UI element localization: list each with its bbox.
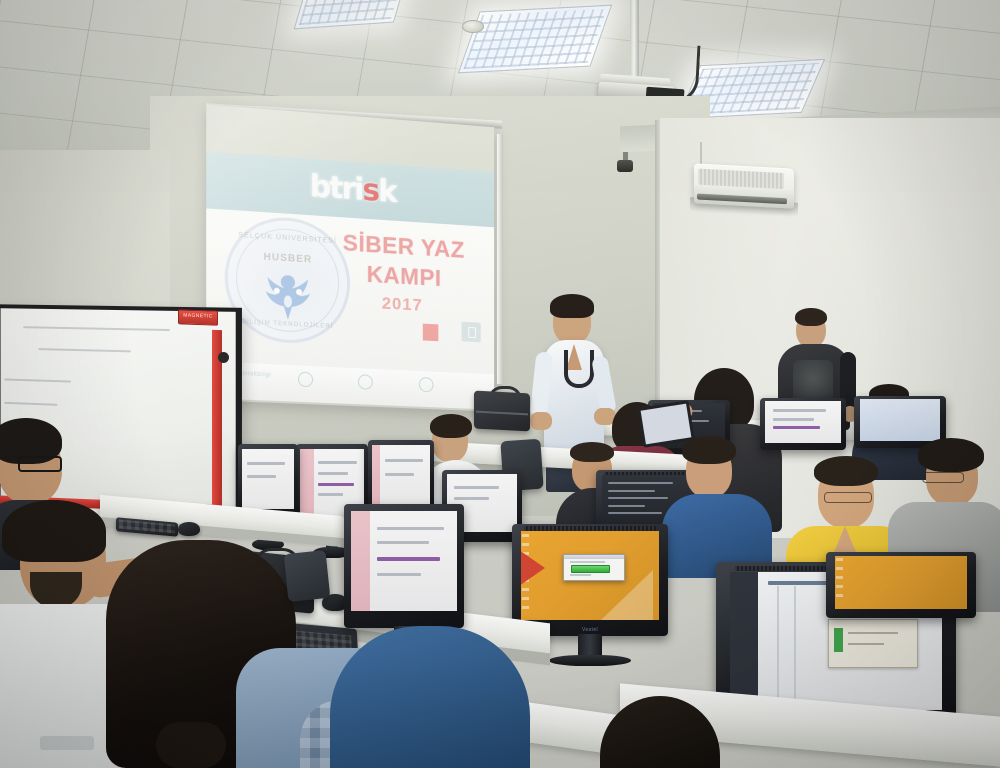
window-row bbox=[454, 497, 489, 500]
glasses-icon bbox=[922, 472, 964, 483]
desktop-white bbox=[242, 449, 295, 510]
terminal-line bbox=[608, 497, 668, 499]
lock-icon bbox=[462, 322, 481, 343]
status-indicator bbox=[834, 628, 843, 652]
social-icon bbox=[358, 374, 373, 390]
window-sidebar[interactable] bbox=[730, 572, 757, 710]
monitor-screen bbox=[835, 556, 967, 609]
progress-dialog[interactable] bbox=[563, 554, 625, 581]
desktop-launcher-dock[interactable] bbox=[836, 558, 843, 603]
glasses-icon bbox=[824, 492, 872, 503]
ponytail bbox=[156, 722, 226, 768]
dialog-titlebar bbox=[564, 555, 624, 559]
window-sidebar bbox=[300, 449, 314, 516]
whiteboard-brand-label: MAGNETIC bbox=[178, 309, 218, 325]
shirt-logo bbox=[40, 736, 94, 750]
ceiling-light bbox=[458, 5, 612, 74]
table-column-divider bbox=[777, 586, 779, 704]
window-row bbox=[377, 573, 421, 576]
desktop-orange bbox=[521, 531, 658, 621]
whiteboard-writing bbox=[4, 402, 57, 406]
window-row bbox=[385, 459, 423, 462]
monitor-back-2 bbox=[760, 398, 846, 450]
tshirt-graphic bbox=[793, 360, 833, 402]
whiteboard-writing bbox=[38, 348, 130, 352]
monitor-screen bbox=[351, 511, 457, 610]
projection-screen: btrisk BİLGİ GÜVENLİĞİ VE YÖNETİM DANIŞM… bbox=[206, 104, 494, 411]
desktop-white bbox=[765, 401, 841, 443]
terminal-line bbox=[608, 505, 645, 507]
instructor-hair bbox=[550, 294, 594, 318]
window-row-selected bbox=[773, 426, 820, 429]
whiteboard-pivot-knob bbox=[218, 352, 229, 363]
tablet-device[interactable] bbox=[637, 400, 695, 448]
student-grey-hair bbox=[918, 438, 984, 472]
monitor-front-far-right bbox=[826, 552, 976, 618]
window-row bbox=[318, 461, 357, 464]
student-blue-hair bbox=[682, 436, 736, 464]
whiteboard-brand-text: MAGNETIC bbox=[179, 312, 217, 319]
monitor-foreground-1 bbox=[344, 504, 464, 628]
eagle-emblem-icon bbox=[252, 265, 323, 323]
table-column-divider bbox=[794, 586, 796, 704]
lanyard bbox=[564, 350, 594, 388]
dialog-text-line bbox=[570, 561, 605, 563]
slide-title: SİBER YAZ KAMPI bbox=[320, 226, 486, 296]
desktop-shape-red bbox=[521, 550, 545, 586]
dialog-text-line bbox=[570, 574, 592, 576]
dialog-text-line bbox=[848, 632, 898, 634]
window-row bbox=[318, 472, 348, 475]
social-icon bbox=[419, 377, 434, 392]
window-row bbox=[247, 462, 285, 465]
security-camera-icon bbox=[617, 160, 633, 172]
window-row bbox=[377, 541, 430, 544]
instructor-hand-left bbox=[530, 412, 552, 430]
window-row bbox=[773, 418, 814, 421]
desktop-orange bbox=[835, 556, 967, 609]
window-row-selected bbox=[318, 483, 353, 486]
mouse-left[interactable] bbox=[178, 522, 200, 536]
window-row bbox=[385, 473, 414, 476]
air-conditioner bbox=[694, 163, 794, 208]
desktop-white bbox=[372, 445, 430, 506]
classroom-photo: btrisk BİLGİ GÜVENLİĞİ VE YÖNETİM DANIŞM… bbox=[0, 0, 1000, 768]
smoke-detector-icon bbox=[462, 20, 484, 33]
monitor-brand-label: Vestel bbox=[582, 627, 598, 633]
ac-louver bbox=[697, 194, 787, 205]
monitor-screen bbox=[765, 401, 841, 443]
window-row bbox=[247, 475, 277, 478]
window-row-selected bbox=[377, 557, 440, 561]
student-yellow-hair bbox=[814, 456, 878, 486]
monitor-screen bbox=[860, 399, 941, 441]
terminal-line bbox=[608, 482, 673, 484]
monitor-screen bbox=[242, 449, 295, 510]
terminal-line bbox=[608, 490, 655, 492]
window-row bbox=[318, 493, 343, 496]
desktop-pink-window bbox=[351, 511, 457, 610]
desktop-blue bbox=[860, 399, 941, 441]
whiteboard-writing bbox=[23, 326, 170, 331]
student-maroon-hair bbox=[570, 442, 614, 462]
monitor-front-orange: Vestel bbox=[512, 524, 668, 636]
progress-bar bbox=[571, 565, 610, 573]
monitor-base bbox=[549, 655, 630, 666]
monitor-screen bbox=[372, 445, 430, 506]
glasses-icon bbox=[18, 456, 62, 472]
monitor-screen bbox=[521, 531, 658, 621]
window-row bbox=[773, 409, 826, 412]
window-sidebar bbox=[351, 511, 370, 610]
window-sidebar bbox=[372, 445, 380, 506]
slide-accent-square bbox=[423, 324, 439, 342]
student-fg-beard-hair bbox=[2, 500, 106, 562]
window-row bbox=[454, 486, 499, 489]
ac-vent-grille bbox=[698, 169, 784, 190]
social-icon bbox=[298, 372, 313, 388]
dialog-card[interactable] bbox=[828, 619, 919, 668]
chair-front[interactable] bbox=[284, 550, 331, 602]
projection-screen-edge bbox=[497, 134, 503, 384]
dialog-text-line bbox=[848, 643, 883, 645]
terminal-line bbox=[608, 512, 662, 514]
glasses-icon bbox=[444, 434, 468, 439]
window-row bbox=[377, 527, 445, 530]
whiteboard-writing bbox=[4, 378, 71, 382]
glasses-icon bbox=[799, 323, 823, 328]
